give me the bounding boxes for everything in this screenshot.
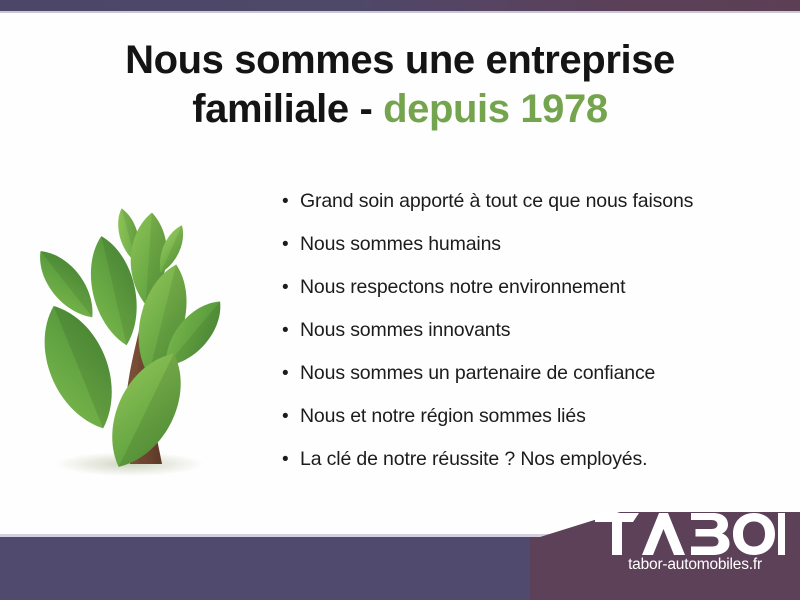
bullet-dot-icon: • xyxy=(282,235,300,254)
list-item-label: La clé de notre réussite ? Nos employés. xyxy=(300,448,647,471)
list-item: • Nous sommes un partenaire de confiance xyxy=(282,362,782,405)
list-item-label: Grand soin apporté à tout ce que nous fa… xyxy=(300,190,693,213)
top-accent-bar xyxy=(0,0,800,11)
logo-panel xyxy=(530,505,800,600)
page-title-line-2-main: familiale xyxy=(192,87,348,131)
bullet-dot-icon: • xyxy=(282,192,300,211)
list-item-label: Nous sommes humains xyxy=(300,233,501,256)
page-title: Nous sommes une entreprise familiale - d… xyxy=(0,36,800,134)
list-item-label: Nous respectons notre environnement xyxy=(300,276,625,299)
list-item: • Grand soin apporté à tout ce que nous … xyxy=(282,190,782,233)
list-item: • Nous respectons notre environnement xyxy=(282,276,782,319)
bullet-dot-icon: • xyxy=(282,407,300,426)
bullet-dot-icon: • xyxy=(282,321,300,340)
page-title-line-1: Nous sommes une entreprise xyxy=(0,36,800,85)
tree-illustration xyxy=(18,188,270,484)
list-item: • Nous et notre région sommes liés xyxy=(282,405,782,448)
list-item-label: Nous sommes innovants xyxy=(300,319,510,342)
list-item: • Nous sommes innovants xyxy=(282,319,782,362)
bullet-list: • Grand soin apporté à tout ce que nous … xyxy=(282,190,782,491)
list-item-label: Nous et notre région sommes liés xyxy=(300,405,586,428)
bullet-dot-icon: • xyxy=(282,278,300,297)
top-accent-bar-edge xyxy=(0,11,800,13)
page-title-accent: depuis 1978 xyxy=(383,87,608,131)
list-item: • La clé de notre réussite ? Nos employé… xyxy=(282,448,782,491)
page-title-dash: - xyxy=(349,87,383,131)
list-item-label: Nous sommes un partenaire de confiance xyxy=(300,362,655,385)
slide-canvas: Nous sommes une entreprise familiale - d… xyxy=(0,0,800,600)
page-title-line-2: familiale - depuis 1978 xyxy=(0,85,800,134)
bullet-dot-icon: • xyxy=(282,364,300,383)
list-item: • Nous sommes humains xyxy=(282,233,782,276)
bullet-dot-icon: • xyxy=(282,450,300,469)
